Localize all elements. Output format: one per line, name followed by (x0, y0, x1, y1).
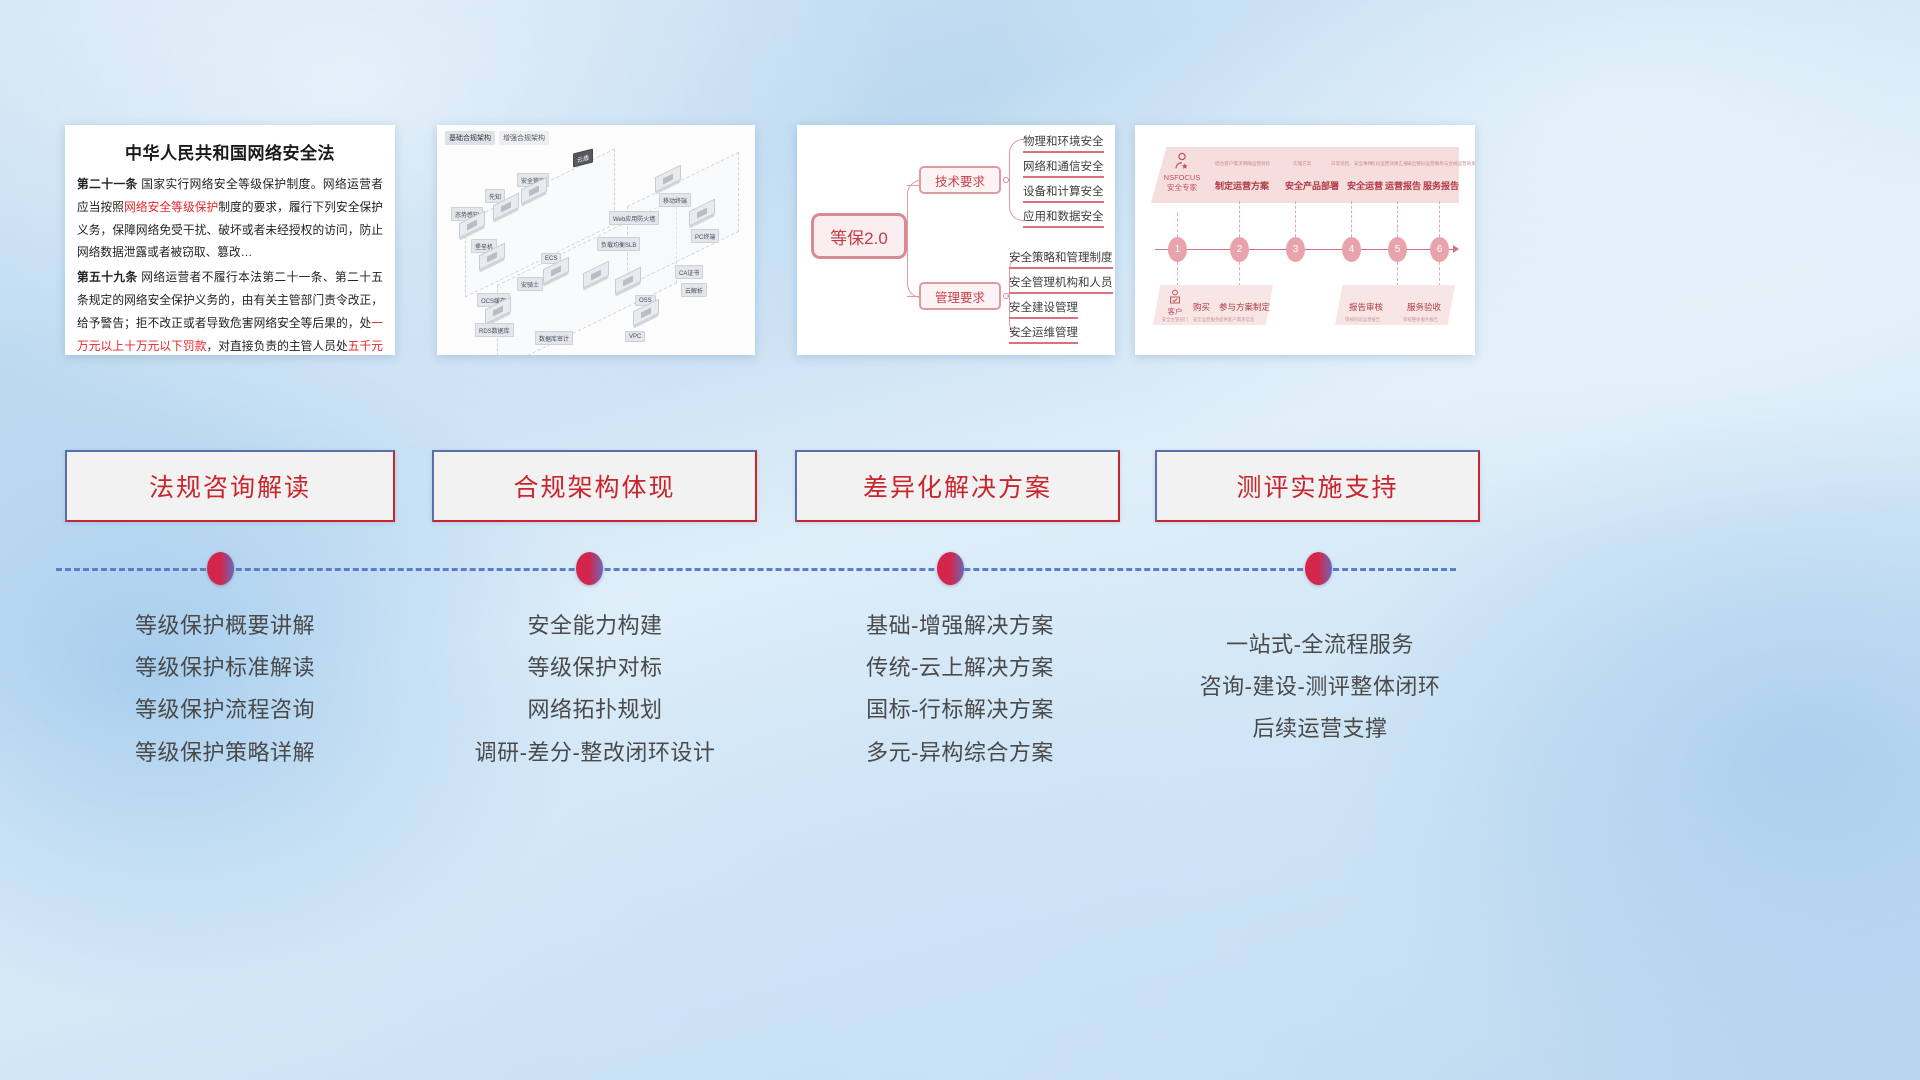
architecture-diagram: 基础合规架构 增强合规架构 云盾 安全管家 先知 态势感知 堡垒机 Web应用防… (437, 125, 755, 355)
tab-enhanced-architecture[interactable]: 增强合规架构 (499, 131, 549, 145)
nsfocus-customer-block: 客户 安全主管部门 (1157, 287, 1193, 323)
title-box-compliance-architecture[interactable]: 合规架构体现 (432, 450, 757, 522)
tick-bottom-2 (1239, 262, 1240, 286)
step-4-title: 运营报告 (1385, 179, 1421, 192)
mindmap-branch-management: 管理要求 (919, 282, 1001, 310)
bottom-4-label: 服务验收 (1407, 301, 1441, 313)
tick-bottom-6 (1439, 262, 1440, 286)
card-compliance-architecture[interactable]: 基础合规架构 增强合规架构 云盾 安全管家 先知 态势感知 堡垒机 Web应用防… (437, 125, 755, 355)
list-item: 基础-增强解决方案 (790, 605, 1130, 647)
card-cybersecurity-law[interactable]: 中华人民共和国网络安全法 第二十一条 国家实行网络安全等级保护制度。网络运营者应… (65, 125, 395, 355)
timeline-marker-1[interactable] (207, 552, 234, 585)
mindmap-branch-technical: 技术要求 (919, 166, 1001, 194)
tick-bottom-1 (1177, 262, 1178, 286)
timeline-marker-2[interactable] (576, 552, 603, 585)
title-box-evaluation-support[interactable]: 测评实施支持 (1155, 450, 1480, 522)
timeline-node-1[interactable]: 1 (1168, 237, 1187, 262)
step-4-sub: 阶段运营效果汇报 (1371, 161, 1408, 167)
bottom-4-sub: 审核整体服务报告 (1403, 317, 1438, 323)
title-box-regulation-consulting[interactable]: 法规咨询解读 (65, 450, 395, 522)
step-5-sub: 输出整份运营服务与合规运营效果 (1407, 161, 1475, 167)
node-label-vpc: VPC (625, 331, 645, 342)
mindmap-root-node: 等保2.0 (811, 213, 907, 259)
tick-4 (1351, 201, 1352, 237)
nsfocus-customer-name: 客户 (1157, 306, 1193, 317)
list-item: 等级保护标准解读 (60, 647, 390, 689)
bottom-3-sub: 审核阶段运营报告 (1345, 317, 1380, 323)
mindmap-leaf-policy-system: 安全策略和管理制度 (1009, 249, 1113, 269)
node-label-rds: RDS数据库 (475, 323, 514, 337)
step-2-sub: 实施方案 (1293, 161, 1311, 167)
node-label-ca-cert: CA证书 (675, 265, 703, 279)
mindmap-curve-technical (1009, 139, 1023, 221)
list-item: 等级保护策略详解 (60, 732, 390, 774)
timeline-marker-3[interactable] (937, 552, 964, 585)
customer-person-icon (1166, 288, 1184, 306)
law-body: 第二十一条 国家实行网络安全等级保护制度。网络运营者应当按照网络安全等级保护制度… (65, 174, 395, 355)
mindmap-curve-root (907, 180, 921, 298)
law-article-21-highlight: 网络安全等级保护 (124, 201, 218, 214)
step-3-sub: 日常巡检、安全事件 (1331, 161, 1372, 167)
law-title: 中华人民共和国网络安全法 (65, 139, 395, 164)
list-item: 安全能力构建 (430, 605, 760, 647)
list-item: 传统-云上解决方案 (790, 647, 1130, 689)
nsfocus-timeline: NSFOCUS 安全专家 结合客户需求明确运营目标 制定运营方案 实施方案 安全… (1135, 125, 1475, 355)
mindmap-leaf-device-compute: 设备和计算安全 (1023, 183, 1104, 203)
preview-cards-row: 中华人民共和国网络安全法 第二十一条 国家实行网络安全等级保护制度。网络运营者应… (0, 125, 1920, 363)
tick-5 (1397, 201, 1398, 237)
list-item: 一站式-全流程服务 (1150, 624, 1490, 666)
list-item: 等级保护对标 (430, 647, 760, 689)
law-article-59: 第五十九条 网络运营者不履行本法第二十一条、第二十五条规定的网络安全保护义务的，… (77, 267, 383, 355)
node-label-pc-terminal: PC终端 (691, 229, 719, 243)
nsfocus-expert-name: NSFOCUS (1157, 173, 1207, 183)
node-label-cloud-dns: 云解析 (681, 283, 707, 297)
mindmap-leaf-network-comm: 网络和通信安全 (1023, 158, 1104, 178)
feature-list-evaluation-support: 一站式-全流程服务 咨询-建设-测评整体闭环 后续运营支撑 (1150, 624, 1490, 751)
feature-list-regulation-consulting: 等级保护概要讲解 等级保护标准解读 等级保护流程咨询 等级保护策略详解 (60, 605, 390, 774)
list-item: 等级保护概要讲解 (60, 605, 390, 647)
timeline-arrow-icon (1453, 245, 1459, 253)
law-article-21-label: 第二十一条 (77, 178, 138, 191)
tick-2 (1239, 201, 1240, 237)
timeline-marker-4[interactable] (1305, 552, 1332, 585)
timeline-node-3[interactable]: 3 (1286, 237, 1305, 262)
bottom-1-label: 购买 (1193, 301, 1210, 313)
mindmap-leaf-operations: 安全运维管理 (1009, 324, 1078, 344)
list-item: 咨询-建设-测评整体闭环 (1150, 666, 1490, 708)
list-item: 多元-异构综合方案 (790, 732, 1130, 774)
mindmap-leaf-app-data: 应用和数据安全 (1023, 208, 1104, 228)
step-1-sub: 结合客户需求明确运营目标 (1215, 161, 1270, 167)
node-label-slb: 负载均衡SLB (597, 237, 640, 251)
list-item: 调研-差分-整改闭环设计 (430, 732, 760, 774)
list-item: 网络拓扑规划 (430, 689, 760, 731)
feature-list-differentiated-solution: 基础-增强解决方案 传统-云上解决方案 国标-行标解决方案 多元-异构综合方案 (790, 605, 1130, 774)
mindmap-leaf-org-personnel: 安全管理机构和人员 (1009, 274, 1113, 294)
bottom-2-sub: 提供客户需求信息 (1219, 317, 1254, 323)
architecture-tabs[interactable]: 基础合规架构 增强合规架构 (445, 131, 549, 145)
timeline-node-5[interactable]: 5 (1388, 237, 1407, 262)
step-1-title: 制定运营方案 (1215, 179, 1269, 192)
timeline-node-4[interactable]: 4 (1342, 237, 1361, 262)
expert-person-icon (1171, 151, 1193, 173)
tab-basic-architecture[interactable]: 基础合规架构 (445, 131, 495, 145)
bottom-3-label: 报告审核 (1349, 301, 1383, 313)
law-article-59-label: 第五十九条 (77, 271, 138, 284)
feature-list-compliance-architecture: 安全能力构建 等级保护对标 网络拓扑规划 调研-差分-整改闭环设计 (430, 605, 760, 774)
timeline-node-2[interactable]: 2 (1230, 237, 1249, 262)
nsfocus-expert-role: 安全专家 (1157, 183, 1207, 193)
tick-3 (1295, 201, 1296, 237)
law-article-59-text-b: ，对直接负责的主管人员处 (206, 340, 347, 353)
timeline-axis (1155, 249, 1455, 250)
nsfocus-expert-block: NSFOCUS 安全专家 (1157, 149, 1207, 193)
tick-6 (1439, 201, 1440, 237)
node-label-mobile-terminal: 移动终端 (659, 193, 691, 207)
bottom-2-label: 参与方案制定 (1219, 301, 1270, 313)
list-item: 国标-行标解决方案 (790, 689, 1130, 731)
tick-1 (1177, 213, 1178, 237)
mindmap-leaf-construction: 安全建设管理 (1009, 299, 1078, 319)
mindmap-leaf-physical-env: 物理和环境安全 (1023, 133, 1104, 153)
bottom-1-sub: 安全运营服务 (1193, 317, 1219, 323)
timeline-dashed-line (56, 568, 1456, 571)
list-item: 等级保护流程咨询 (60, 689, 390, 731)
section-titles-row: 法规咨询解读 合规架构体现 差异化解决方案 测评实施支持 (0, 450, 1920, 522)
step-5-title: 服务报告 (1423, 179, 1459, 192)
card-dengbao-mindmap[interactable]: 等保2.0 技术要求 管理要求 物理和环境安全 网络和通信安全 设备和计算安全 … (797, 125, 1115, 355)
card-nsfocus-service-timeline[interactable]: NSFOCUS 安全专家 结合客户需求明确运营目标 制定运营方案 实施方案 安全… (1135, 125, 1475, 355)
step-2-title: 安全产品部署 (1285, 179, 1339, 192)
step-3-title: 安全运营 (1347, 179, 1383, 192)
tick-bottom-5 (1397, 262, 1398, 286)
mindmap: 等保2.0 技术要求 管理要求 物理和环境安全 网络和通信安全 设备和计算安全 … (797, 125, 1115, 355)
node-label-db-audit: 数据库审计 (535, 331, 573, 345)
law-article-21: 第二十一条 国家实行网络安全等级保护制度。网络运营者应当按照网络安全等级保护制度… (77, 174, 383, 265)
mindmap-stem-root-mgmt (907, 296, 919, 297)
timeline-node-6[interactable]: 6 (1430, 237, 1449, 262)
list-item: 后续运营支撑 (1150, 708, 1490, 750)
nsfocus-customer-sub: 安全主管部门 (1157, 317, 1193, 323)
node-label-anqishi: 安骑士 (517, 277, 543, 291)
title-box-differentiated-solution[interactable]: 差异化解决方案 (795, 450, 1120, 522)
node-label-waf: Web应用防火墙 (609, 211, 659, 225)
